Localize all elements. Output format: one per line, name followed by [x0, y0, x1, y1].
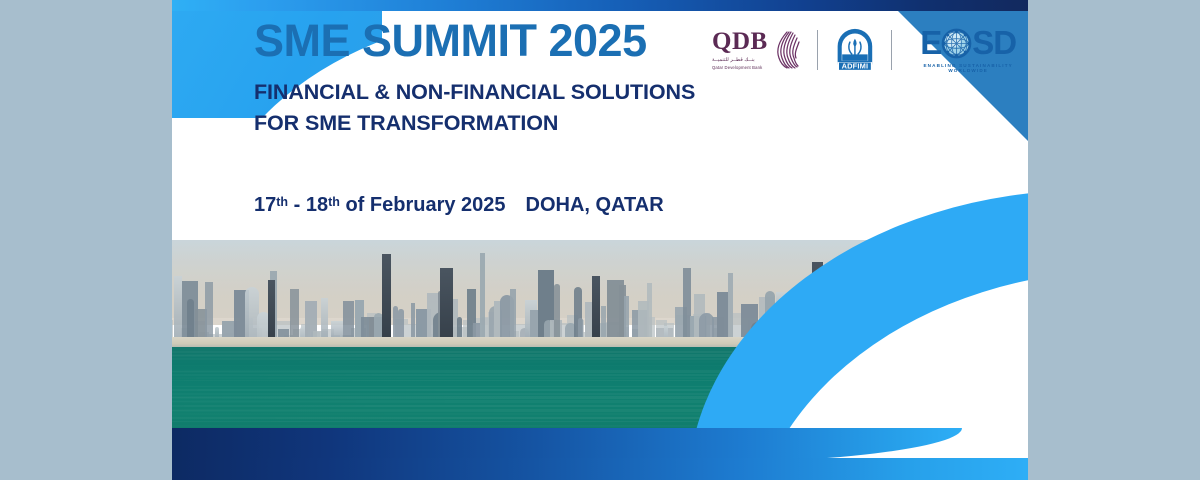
eosd-tagline: ENABLING SUSTAINABILITY WORLDWIDE: [908, 63, 1028, 73]
event-banner: SME SUMMIT 2025 FINANCIAL & NON-FINANCIA…: [172, 0, 1028, 480]
bottom-gradient-strip: [172, 458, 1028, 480]
top-gradient-strip: [172, 0, 1028, 11]
globe-icon: [941, 28, 972, 59]
logo-divider: [817, 30, 818, 70]
building: [480, 253, 485, 350]
page-background: SME SUMMIT 2025 FINANCIAL & NON-FINANCIA…: [0, 0, 1200, 480]
date-month-year: of February 2025: [340, 194, 506, 216]
landmark-tower: [382, 254, 391, 350]
qdb-flame-icon: [773, 30, 801, 70]
qdb-arabic-name: بنــك قطــر للتنميــة: [712, 57, 768, 65]
event-dateline: 17th - 18th of February 2025DOHA, QATAR: [254, 194, 664, 217]
svg-text:ADFIMI: ADFIMI: [841, 62, 868, 71]
eosd-logo[interactable]: E: [908, 28, 1028, 73]
date-dash: -: [288, 194, 306, 216]
page-title: SME SUMMIT 2025: [254, 18, 724, 63]
adfimi-logo[interactable]: ADFIMI: [834, 28, 876, 72]
logo-divider: [891, 30, 892, 70]
date-day-1: 17: [254, 194, 276, 216]
subtitle-line-2: FOR SME TRANSFORMATION: [254, 108, 724, 139]
eosd-wordmark: E: [908, 28, 1028, 59]
date-day-2: 18: [306, 194, 328, 216]
qdb-logo-text: QDB بنــك قطــر للتنميــة Qatar Developm…: [712, 29, 768, 71]
event-location: DOHA, QATAR: [526, 194, 664, 216]
qdb-english-name: Qatar Development Bank: [712, 65, 768, 71]
eosd-letters-sd: SD: [972, 28, 1016, 58]
eosd-letter-e: E: [920, 28, 941, 58]
qdb-logo[interactable]: QDB بنــك قطــر للتنميــة Qatar Developm…: [712, 29, 801, 71]
qdb-wordmark: QDB: [712, 29, 768, 54]
date-day-1-suffix: th: [276, 195, 288, 209]
subtitle-line-1: FINANCIAL & NON-FINANCIAL SOLUTIONS: [254, 77, 724, 108]
adfimi-arch-tulip-icon: ADFIMI: [834, 28, 876, 72]
partner-logo-bar: QDB بنــك قطــر للتنميــة Qatar Developm…: [712, 20, 1028, 80]
date-day-2-suffix: th: [328, 195, 340, 209]
header-text-block: SME SUMMIT 2025 FINANCIAL & NON-FINANCIA…: [254, 18, 724, 138]
